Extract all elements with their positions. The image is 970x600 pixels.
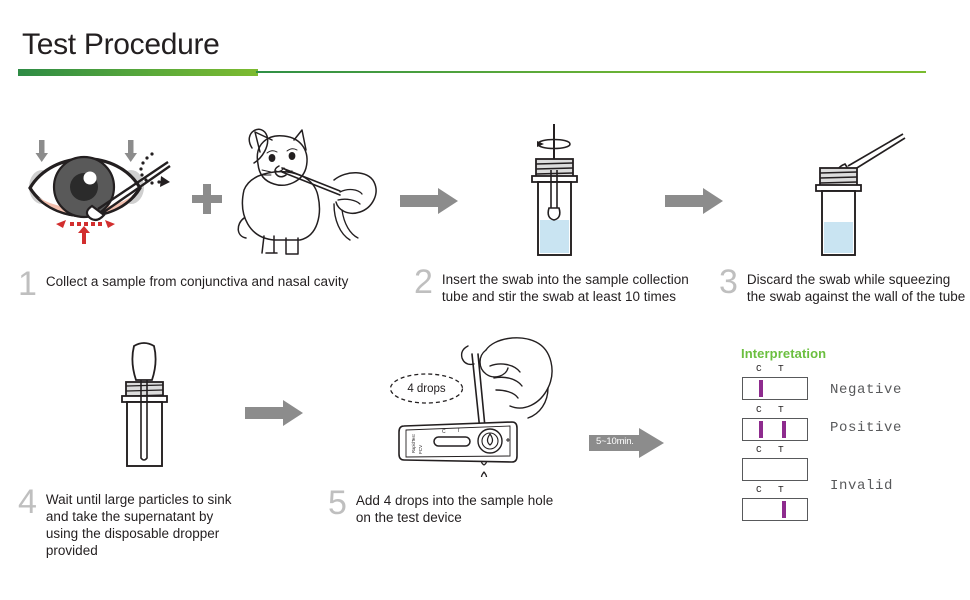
cat-hind bbox=[238, 218, 246, 238]
device-mark-c: C bbox=[442, 429, 446, 435]
cat-eye-left bbox=[269, 154, 276, 162]
result-mark-t: T bbox=[778, 363, 784, 374]
result-box bbox=[742, 418, 808, 441]
result-label-negative: Negative bbox=[830, 382, 902, 398]
result-band-c bbox=[759, 421, 763, 438]
cat-leg-front bbox=[262, 236, 277, 253]
arrow-right-icon-3 bbox=[245, 398, 305, 428]
eye-swab-illustration bbox=[18, 132, 183, 252]
tube-liquid bbox=[540, 220, 569, 253]
result-mark-c: C bbox=[756, 484, 762, 495]
cat-head bbox=[257, 136, 307, 185]
step-1: 1 Collect a sample from conjunctiva and … bbox=[18, 267, 348, 301]
step-5-number: 5 bbox=[328, 486, 347, 520]
device-code-text: FCV bbox=[418, 444, 423, 454]
eye-arrow-down-right bbox=[125, 140, 138, 162]
result-mark-t: T bbox=[778, 404, 784, 415]
cat-swab-illustration bbox=[222, 118, 382, 268]
hand-holding-dropper bbox=[480, 338, 552, 418]
header-rule-thin bbox=[256, 71, 926, 73]
dropper-cap bbox=[122, 382, 167, 402]
device-result-window bbox=[434, 437, 470, 446]
tube-cap-2 bbox=[816, 168, 861, 191]
step-3-text: Discard the swab while squeezing the swa… bbox=[747, 265, 965, 305]
cat-eye-right bbox=[289, 152, 296, 160]
step-5-text: Add 4 drops into the sample hole on the … bbox=[356, 486, 553, 526]
device-mark-t: T bbox=[457, 428, 460, 434]
eye-arrow-down-left bbox=[36, 140, 49, 162]
step-4: 4 Wait until large particles to sink and… bbox=[18, 485, 232, 559]
dropper-bulb bbox=[132, 343, 155, 380]
time-arrow: 5~10min. bbox=[589, 427, 665, 464]
time-arrow-label: 5~10min. bbox=[596, 436, 634, 447]
result-mark-t: T bbox=[778, 484, 784, 495]
result-band-t bbox=[782, 421, 786, 438]
interpretation-title: Interpretation bbox=[741, 346, 826, 361]
step-4-number: 4 bbox=[18, 485, 37, 519]
device-drop-in-hole bbox=[488, 434, 493, 445]
test-device: RapidTest FCV C T bbox=[398, 420, 518, 473]
step-2-text: Insert the swab into the sample collecti… bbox=[442, 265, 689, 305]
step-2: 2 Insert the swab into the sample collec… bbox=[414, 265, 689, 305]
result-band-c bbox=[759, 380, 763, 397]
step-4-text: Wait until large particles to sink and t… bbox=[46, 485, 232, 559]
hand-holding-swab bbox=[334, 173, 376, 240]
cat-swab bbox=[275, 166, 340, 195]
arrow-right-icon-1 bbox=[400, 186, 460, 216]
step-3-number: 3 bbox=[719, 265, 738, 299]
result-mark-c: C bbox=[756, 404, 762, 415]
dropper-tube-illustration bbox=[110, 340, 180, 475]
tube-swab-removed-illustration bbox=[800, 118, 910, 268]
step-5: 5 Add 4 drops into the sample hole on th… bbox=[328, 486, 553, 526]
plus-icon bbox=[190, 182, 224, 216]
result-mark-c: C bbox=[756, 363, 762, 374]
eye-highlight bbox=[84, 172, 97, 185]
page-title: Test Procedure bbox=[22, 28, 220, 62]
result-box bbox=[742, 498, 808, 521]
tube-with-swab-illustration bbox=[518, 118, 598, 268]
arrow-right-icon-2 bbox=[665, 186, 725, 216]
step-1-text: Collect a sample from conjunctiva and na… bbox=[46, 267, 348, 290]
tube-cap bbox=[532, 159, 577, 182]
swab-tip-in-tube bbox=[548, 208, 560, 220]
header-rule-thick bbox=[18, 69, 258, 76]
result-mark-c: C bbox=[756, 444, 762, 455]
result-mark-t: T bbox=[778, 444, 784, 455]
step-1-number: 1 bbox=[18, 267, 37, 301]
dropper-tube-body bbox=[127, 402, 162, 466]
result-box bbox=[742, 458, 808, 481]
eye-red-arrows bbox=[56, 220, 115, 244]
result-band-t bbox=[782, 501, 786, 518]
tube-liquid-2 bbox=[824, 222, 853, 253]
step-3: 3 Discard the swab while squeezing the s… bbox=[719, 265, 965, 305]
result-label-positive: Positive bbox=[830, 420, 902, 436]
device-brand-text: RapidTest bbox=[411, 434, 416, 453]
result-label-invalid: Invalid bbox=[830, 478, 893, 494]
step-2-number: 2 bbox=[414, 265, 433, 299]
result-box bbox=[742, 377, 808, 400]
